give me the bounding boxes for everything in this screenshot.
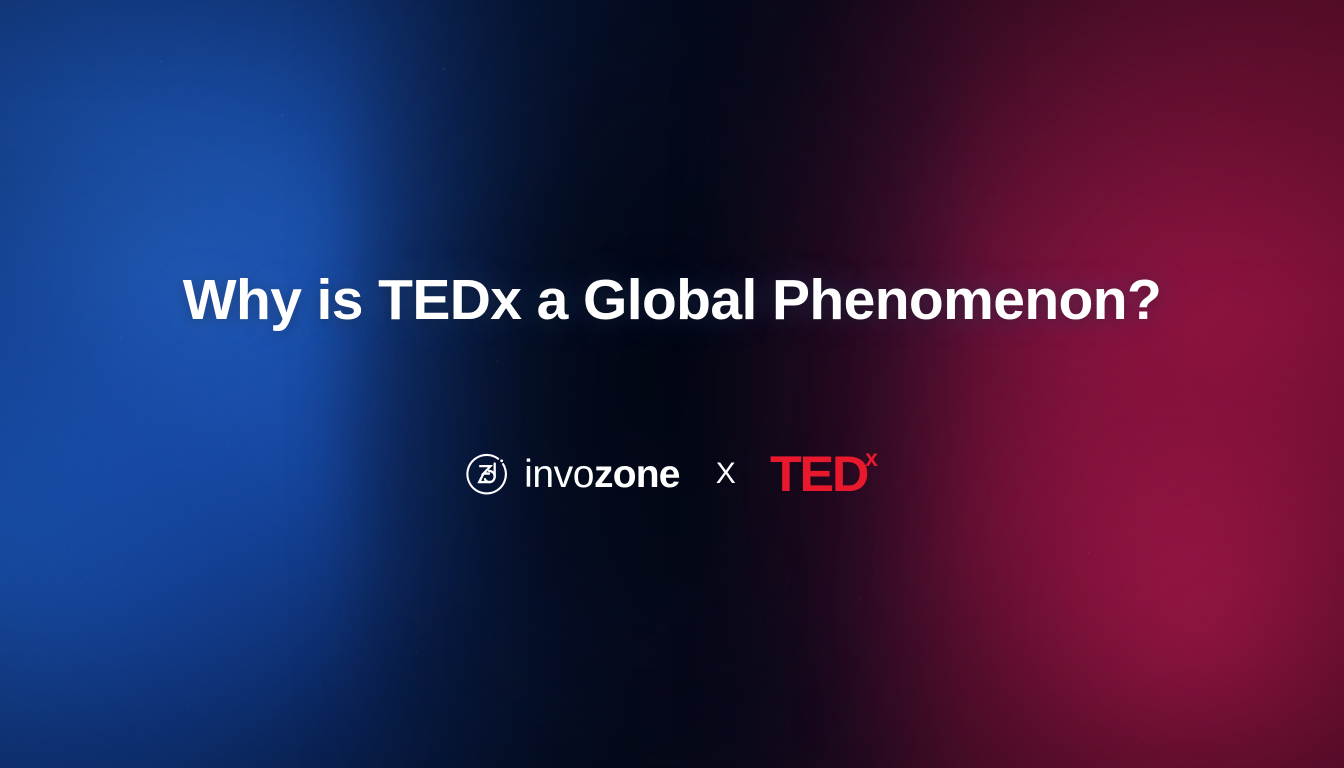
invozone-monogram-icon	[466, 452, 510, 496]
collaboration-separator: X	[716, 459, 736, 489]
event-banner: Why is TEDx a Global Phenomenon? invozon…	[0, 0, 1344, 768]
invozone-wordmark-bold: zone	[594, 453, 680, 496]
partner-logo-lockup: invozone X TED x	[466, 449, 878, 499]
tedx-logo[interactable]: TED x	[770, 449, 878, 499]
invozone-logo[interactable]: invozone	[466, 452, 680, 496]
page-title: Why is TEDx a Global Phenomenon?	[183, 269, 1161, 332]
banner-content: Why is TEDx a Global Phenomenon? invozon…	[0, 0, 1344, 768]
tedx-superscript-x: x	[865, 447, 878, 470]
tedx-wordmark: TED	[770, 449, 867, 499]
invozone-wordmark: invozone	[524, 455, 680, 494]
invozone-wordmark-light: invo	[524, 453, 594, 496]
